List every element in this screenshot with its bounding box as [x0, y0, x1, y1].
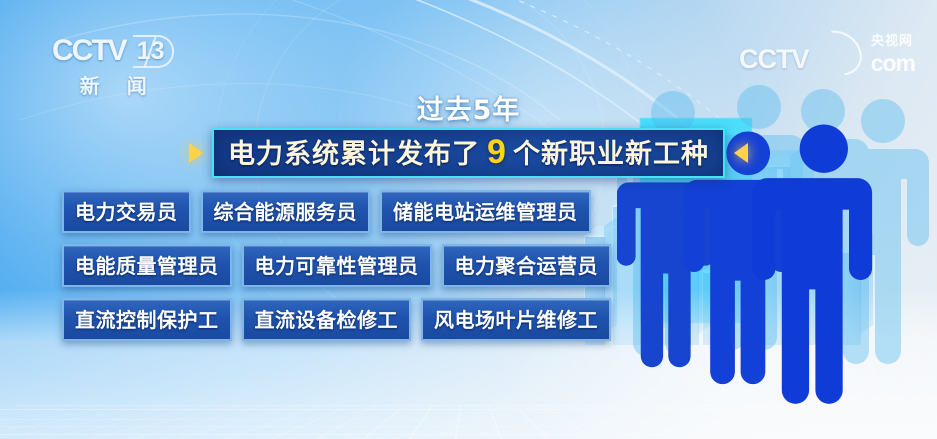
right-arrow-marker-icon	[734, 143, 748, 163]
job-tag[interactable]: 电力聚合运营员	[442, 244, 612, 287]
watermark-cn-label: 央视网	[871, 30, 913, 49]
job-tag[interactable]: 电能质量管理员	[62, 244, 232, 287]
channel-logo-row: CCTV 13	[52, 34, 174, 68]
cctv-com-watermark: CCTV 央视网 com	[739, 34, 915, 80]
channel-logo-name: CCTV	[52, 34, 126, 68]
job-tag[interactable]: 直流控制保护工	[62, 298, 232, 341]
job-tag[interactable]: 风电场叶片维修工	[421, 298, 611, 341]
job-tag[interactable]: 储能电站运维管理员	[380, 190, 591, 233]
broadcast-graphic: CCTV 13 新 闻 CCTV 央视网 com 过去5年 电力系统累计发布了 …	[0, 0, 937, 439]
job-tag[interactable]: 电力可靠性管理员	[242, 244, 432, 287]
banner-highlight-number: 9	[480, 135, 513, 169]
job-tag-row: 电能质量管理员 电力可靠性管理员 电力聚合运营员	[62, 244, 611, 287]
watermark-brand: CCTV	[739, 46, 809, 73]
left-arrow-marker-icon	[189, 143, 203, 163]
headline-banner: 电力系统累计发布了 9 个新职业新工种	[212, 128, 725, 178]
job-tag[interactable]: 直流设备检修工	[242, 298, 412, 341]
job-tag[interactable]: 电力交易员	[62, 190, 191, 233]
job-tag-row: 直流控制保护工 直流设备检修工 风电场叶片维修工	[62, 298, 611, 341]
banner-prefix-text: 电力系统累计发布了	[228, 141, 480, 169]
watermark-tld: com	[871, 50, 915, 77]
job-tag[interactable]: 综合能源服务员	[201, 190, 371, 233]
headline-banner-wrap: 电力系统累计发布了 9 个新职业新工种	[0, 128, 937, 178]
watermark-arc-icon	[805, 21, 870, 84]
job-tag-grid: 电力交易员 综合能源服务员 储能电站运维管理员 电能质量管理员 电力可靠性管理员…	[62, 190, 611, 341]
banner-suffix-text: 个新职业新工种	[513, 141, 709, 169]
headline-kicker: 过去5年	[0, 88, 937, 127]
job-tag-row: 电力交易员 综合能源服务员 储能电站运维管理员	[62, 190, 611, 233]
